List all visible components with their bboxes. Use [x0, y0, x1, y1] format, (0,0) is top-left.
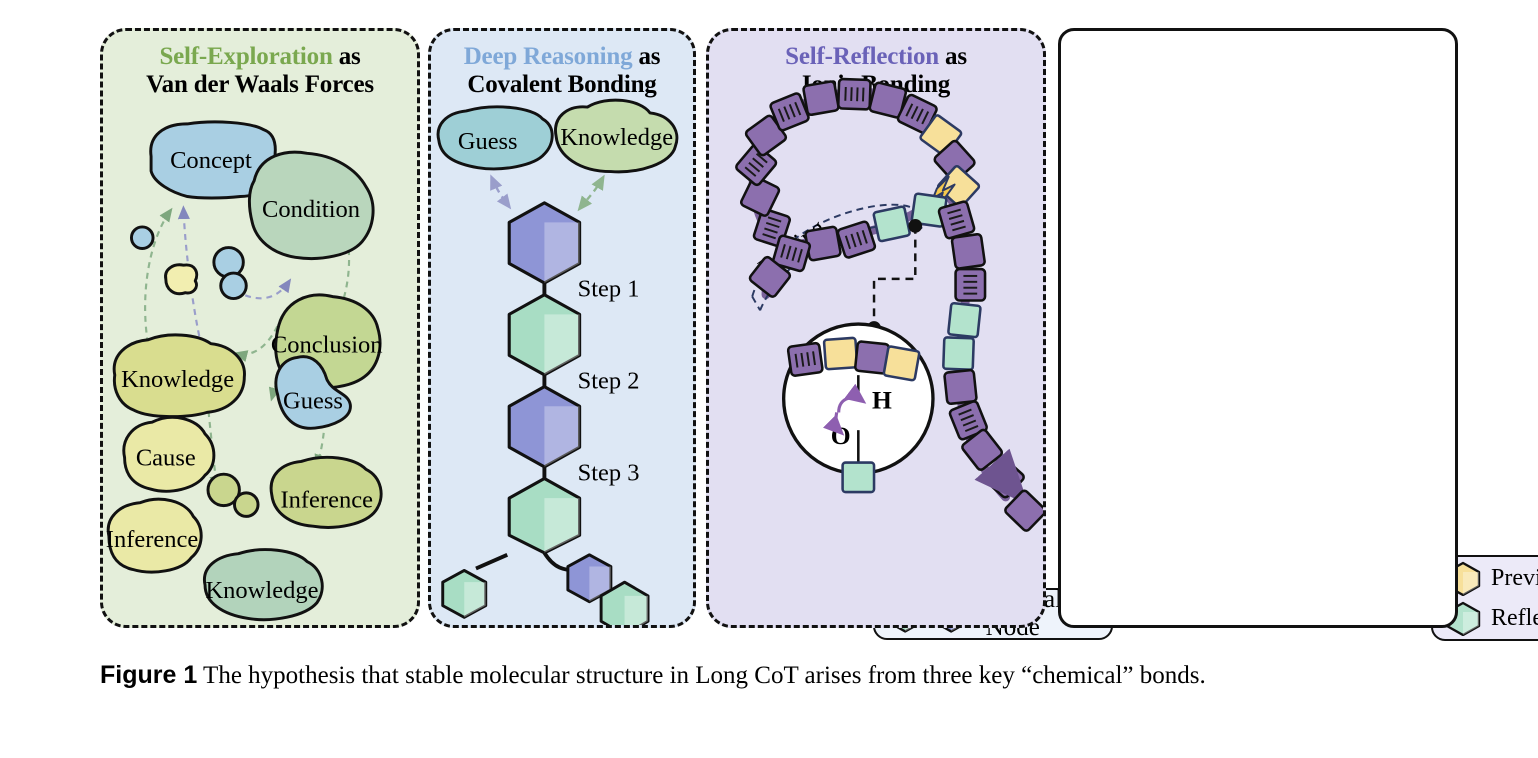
chain-backbone-folded — [766, 189, 945, 295]
hexagon-node-3 — [509, 387, 579, 467]
reason-cloud-labels: Guess Knowledge — [458, 124, 673, 155]
hexagon-node-1 — [509, 203, 579, 283]
node-label-knowledge-1: Knowledge — [121, 366, 234, 393]
bond-rotation-arrows — [836, 398, 862, 432]
node-label-inference-2: Inference — [106, 526, 199, 553]
folding-label: Folding — [753, 214, 830, 282]
chain-blocks-tail — [938, 201, 1025, 499]
chain-backbone-tail — [945, 190, 1006, 496]
figure-root: Self-Exploration as Van der Waals Forces — [0, 0, 1538, 758]
inset-hydrogen-bond: H O — [784, 324, 933, 492]
reflect-diagram: Folding — [709, 31, 1043, 625]
panel-deep-reasoning: Deep Reasoning as Covalent Bonding — [428, 28, 696, 628]
particle-small-3 — [221, 273, 247, 299]
caption-number: Figure 1 — [100, 661, 197, 689]
step-label-1: Step 1 — [578, 276, 640, 303]
cloud-knowledge — [556, 100, 677, 172]
chain-backbone-loop — [753, 92, 952, 235]
legend-label-reflected-node: Reflected Logical Node — [1491, 605, 1538, 632]
node-label-guess: Guess — [283, 387, 343, 414]
node-label-concept: Concept — [170, 147, 252, 174]
panel-cot-trace: Self-Exploration Given the known conditi… — [1058, 28, 1458, 628]
node-cause — [124, 417, 214, 491]
node-knowledge-1 — [114, 335, 244, 417]
detached-nodes — [443, 553, 648, 625]
explore-diagram: Concept Condition Conclusion Knowledge G… — [103, 31, 417, 625]
panel-explore-title-accent: Self-Exploration — [159, 43, 332, 70]
node-condition — [249, 152, 373, 258]
particle-small-1 — [131, 227, 153, 249]
caption-text: The hypothesis that stable molecular str… — [197, 662, 1206, 689]
chain-direction-arrow — [1004, 477, 1020, 495]
step-label-3: Step 3 — [578, 460, 640, 487]
hexagon-node-2 — [509, 295, 579, 375]
particle-small-6 — [234, 493, 258, 517]
node-guess — [276, 357, 350, 429]
cloud-label-guess: Guess — [458, 128, 518, 155]
node-label-conclusion: Conclusion — [271, 332, 383, 359]
atom-label-h: H — [872, 386, 892, 415]
particle-small-5 — [208, 474, 239, 505]
node-inference-2 — [108, 499, 201, 572]
cloud-label-knowledge: Knowledge — [560, 124, 673, 151]
chain-blocks-folded — [748, 193, 946, 298]
panel-explore-title: Self-Exploration as Van der Waals Forces — [103, 43, 417, 99]
node-inference-1 — [271, 457, 381, 527]
particle-small-2 — [214, 248, 243, 277]
cloud-guess — [438, 107, 552, 169]
node-concept — [151, 122, 276, 198]
node-conclusion — [276, 295, 380, 388]
panel-reflect-title-as: as — [939, 43, 967, 70]
legend-label-previous-node: Previous Logical Node — [1491, 565, 1538, 592]
panel-reason-title-sub: Covalent Bonding — [431, 71, 693, 99]
break-bolt-icon — [933, 177, 955, 206]
panel-reflect-title-accent: Self-Reflection — [785, 43, 939, 70]
step-label-2: Step 2 — [578, 368, 640, 395]
node-label-condition: Condition — [262, 196, 360, 223]
figure-caption: Figure 1 The hypothesis that stable mole… — [100, 660, 1460, 691]
explore-node-labels: Concept Condition Conclusion Knowledge G… — [106, 147, 383, 604]
panel-reason-title-accent: Deep Reasoning — [464, 43, 633, 70]
node-knowledge-2 — [204, 550, 322, 620]
panel-self-exploration: Self-Exploration as Van der Waals Forces — [100, 28, 420, 628]
panel-explore-title-as: as — [333, 43, 361, 70]
chain-blocks-loop — [735, 79, 980, 247]
particle-small-4 — [166, 265, 197, 294]
panel-reason-title-as: as — [632, 43, 660, 70]
inset-callout-leader — [867, 219, 922, 335]
reason-diagram: Guess Knowledge — [431, 31, 693, 625]
atom-label-o: O — [831, 421, 851, 450]
node-label-knowledge-2: Knowledge — [205, 577, 318, 604]
node-label-inference-1: Inference — [280, 487, 373, 514]
chain-block-terminal — [1004, 489, 1043, 532]
inset-reflected-node — [843, 463, 874, 492]
panel-reflect-title-sub: Ionic Bonding — [709, 71, 1043, 99]
panel-reason-title: Deep Reasoning as Covalent Bonding — [431, 43, 693, 99]
node-label-cause: Cause — [136, 444, 196, 471]
folding-region-outline — [752, 205, 923, 311]
logical-node-chain — [509, 203, 579, 553]
reason-step-labels: Step 1 Step 2 Step 3 — [431, 31, 693, 625]
panel-reflect-title: Self-Reflection as Ionic Bonding — [709, 43, 1043, 99]
panel-explore-title-sub: Van der Waals Forces — [103, 71, 417, 99]
bond-attraction-arrows — [492, 177, 603, 208]
hexagon-node-4 — [509, 479, 579, 553]
panel-self-reflection: Self-Reflection as Ionic Bonding — [706, 28, 1046, 628]
vdw-force-arcs — [145, 208, 349, 487]
